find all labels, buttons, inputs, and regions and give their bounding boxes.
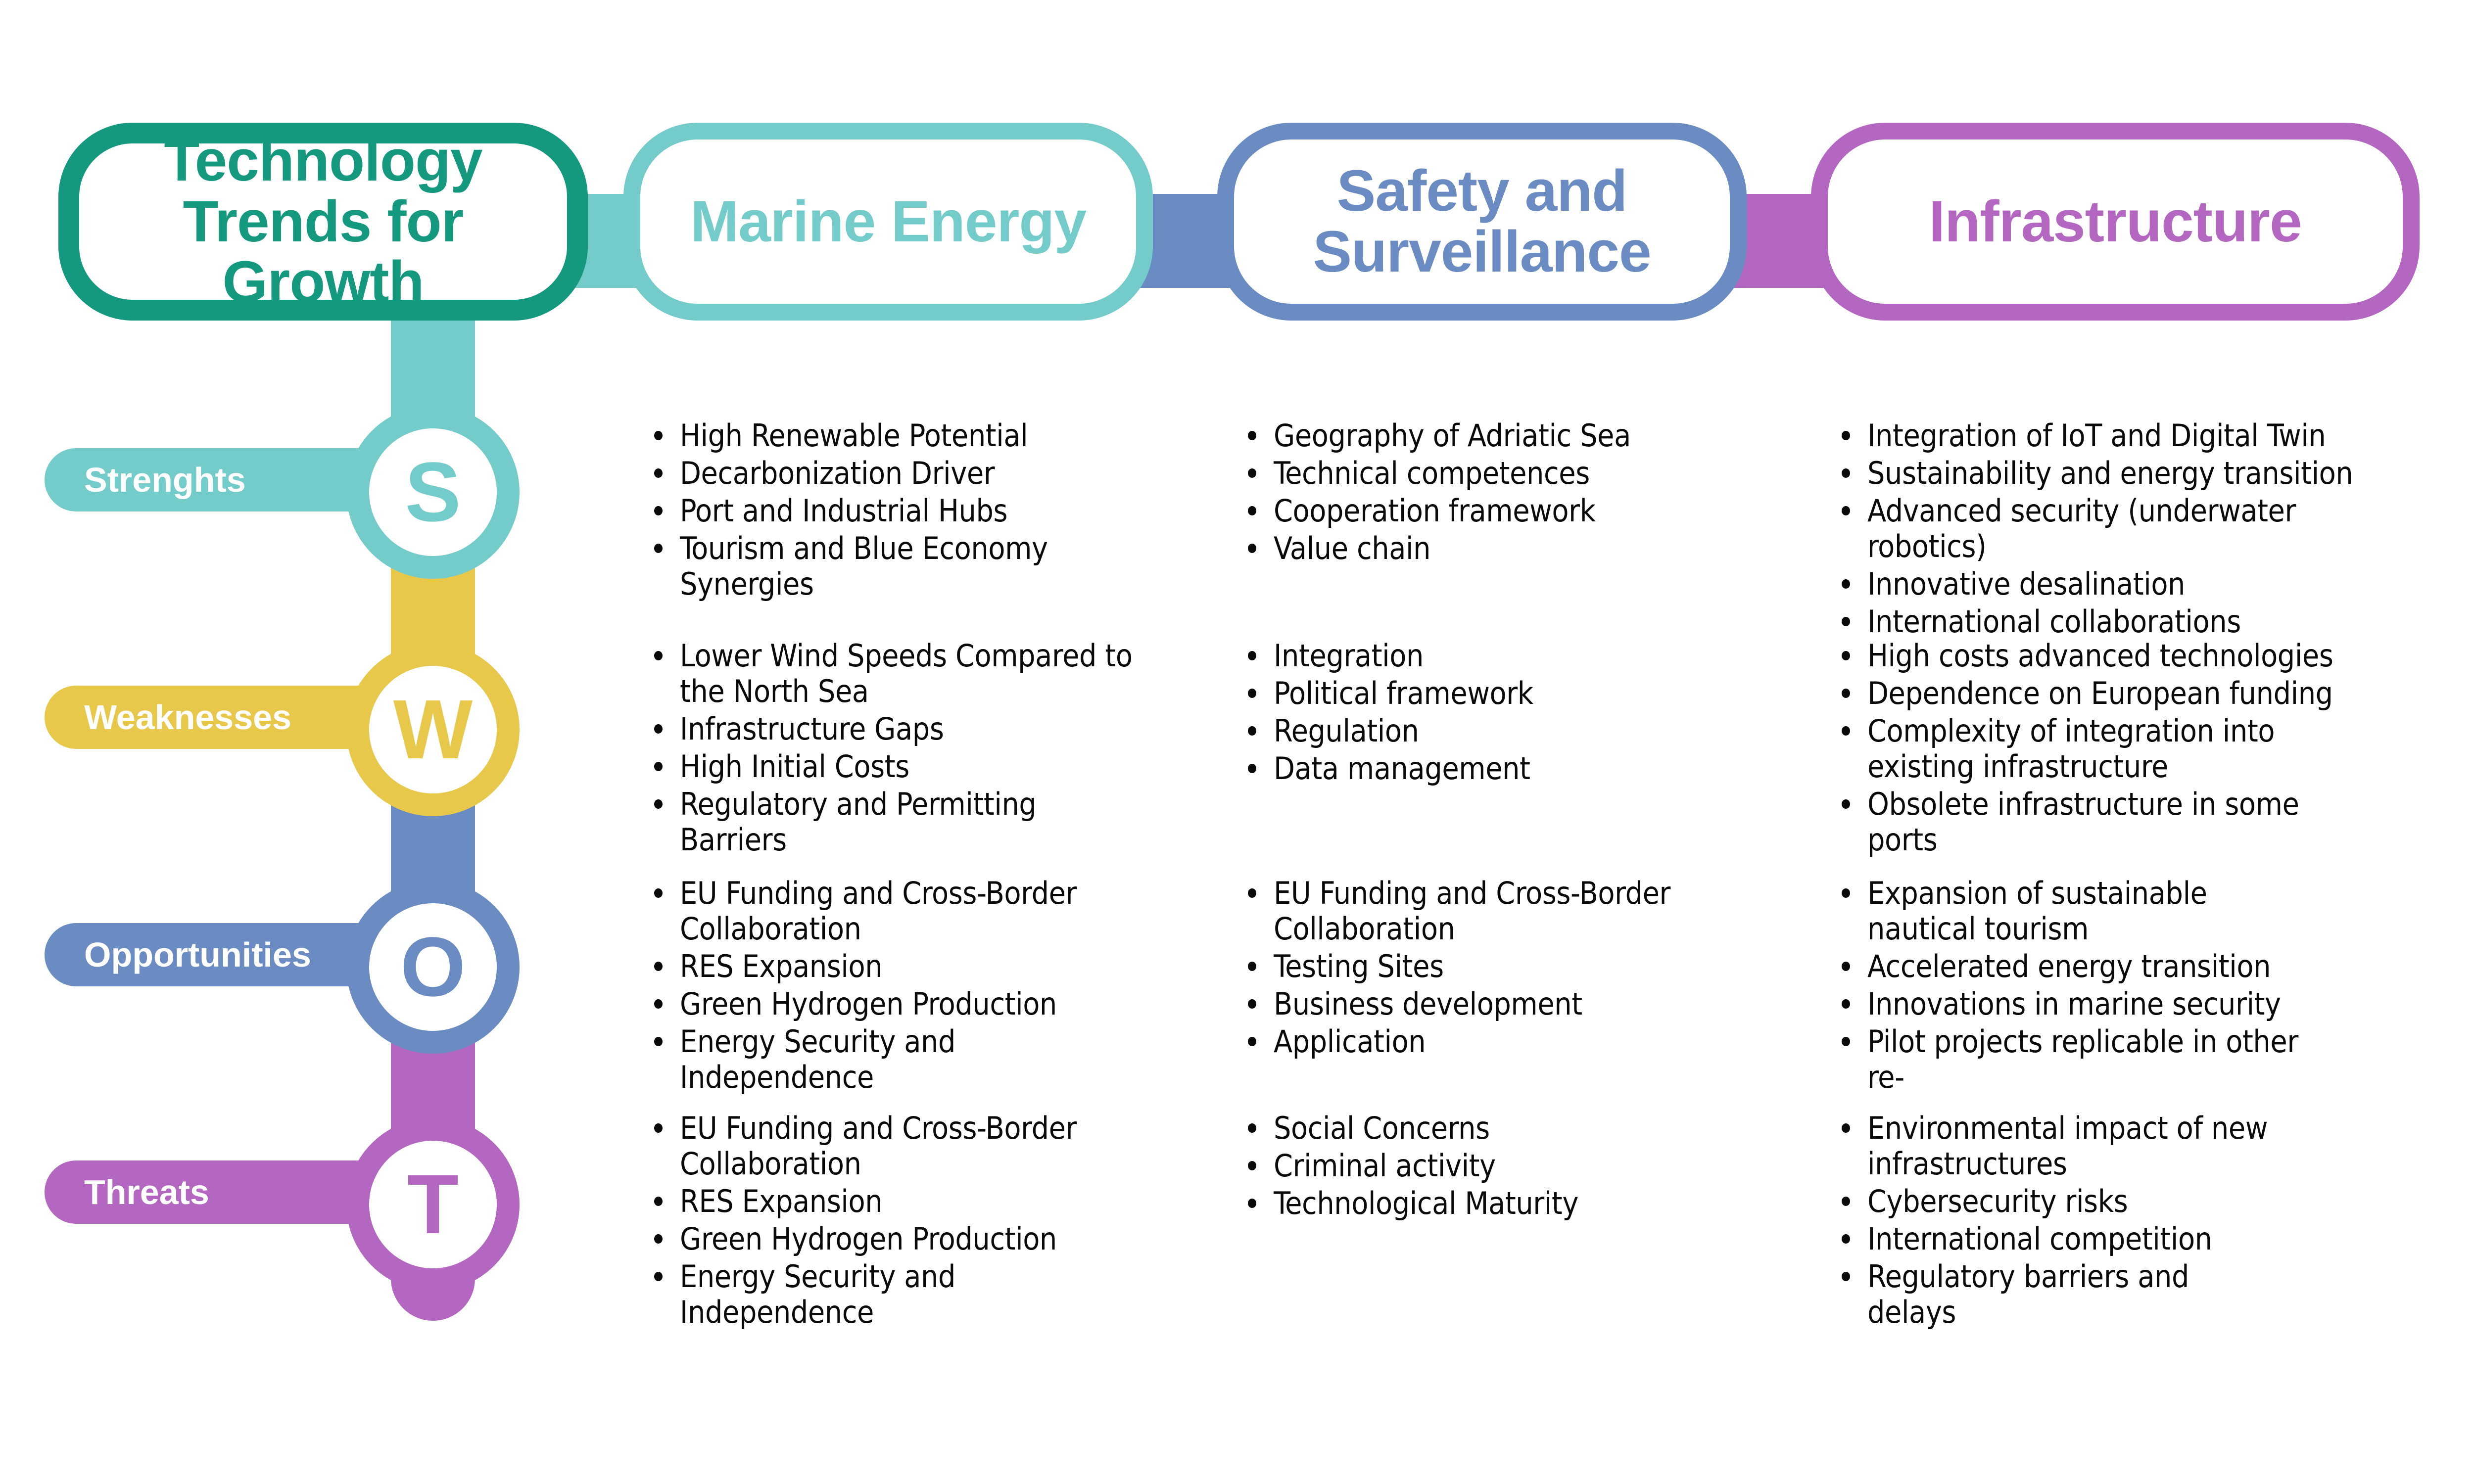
- bullet-item: EU Funding and Cross-Border Collaboratio…: [1237, 876, 1732, 947]
- cell-marine-opportunities: EU Funding and Cross-Border Collaboratio…: [643, 876, 1138, 1097]
- row-node-opportunities-letter: O: [400, 925, 466, 1009]
- column-header-safety-surveillance-label: Safety and Surveillance: [1313, 161, 1651, 282]
- column-header-infrastructure-label: Infrastructure: [1929, 191, 2301, 252]
- bullet-item: Geography of Adriatic Sea: [1237, 418, 1771, 454]
- row-node-opportunities[interactable]: O: [346, 881, 520, 1054]
- bullet-list: EU Funding and Cross-Border Collaboratio…: [643, 876, 1138, 1095]
- bullet-item: Social Concerns: [1237, 1111, 1771, 1146]
- bullet-list: High costs advanced technologiesDependen…: [1831, 638, 2370, 857]
- bullet-item: Complexity of integration into existing …: [1831, 713, 2370, 785]
- cell-safety-weaknesses: IntegrationPolitical frameworkRegulation…: [1237, 638, 1771, 788]
- cell-safety-threats: Social ConcernsCriminal activityTechnolo…: [1237, 1111, 1771, 1223]
- title-box[interactable]: Technology Trends for Growth: [58, 123, 588, 321]
- bullet-item: Green Hydrogen Production: [643, 986, 1138, 1022]
- bullet-item: High costs advanced technologies: [1831, 638, 2370, 674]
- bullet-item: Integration: [1237, 638, 1771, 674]
- bullet-list: Geography of Adriatic SeaTechnical compe…: [1237, 418, 1771, 566]
- cell-infrastructure-opportunities: Expansion of sustainable nautical touris…: [1831, 876, 2316, 1097]
- bullet-item: Cybersecurity risks: [1831, 1184, 2276, 1219]
- bullet-item: Green Hydrogen Production: [643, 1221, 1138, 1257]
- bullet-item: Accelerated energy transition: [1831, 949, 2316, 984]
- bullet-item: Infrastructure Gaps: [643, 711, 1138, 747]
- bullet-item: Innovations in marine security: [1831, 986, 2316, 1022]
- column-header-safety-surveillance[interactable]: Safety and Surveillance: [1217, 123, 1747, 321]
- bullet-item: Energy Security and Independence: [643, 1024, 1138, 1095]
- row-node-threats[interactable]: T: [346, 1118, 520, 1291]
- bullet-item: High Initial Costs: [643, 749, 1138, 785]
- cell-marine-strengths: High Renewable PotentialDecarbonization …: [643, 418, 1178, 604]
- bullet-list: High Renewable PotentialDecarbonization …: [643, 418, 1178, 602]
- bullet-list: IntegrationPolitical frameworkRegulation…: [1237, 638, 1771, 787]
- bullet-item: Advanced security (underwater robotics): [1831, 493, 2405, 564]
- bullet-item: Integration of IoT and Digital Twin: [1831, 418, 2405, 454]
- bullet-item: Data management: [1237, 751, 1771, 787]
- bullet-list: Expansion of sustainable nautical touris…: [1831, 876, 2316, 1095]
- row-node-strengths-letter: S: [405, 450, 461, 534]
- row-label-threats-text: Threats: [84, 1172, 209, 1212]
- bullet-item: International competition: [1831, 1221, 2276, 1257]
- bullet-item: EU Funding and Cross-Border Collaboratio…: [643, 876, 1138, 947]
- bullet-list: Integration of IoT and Digital TwinSusta…: [1831, 418, 2405, 639]
- row-node-threats-letter: T: [407, 1162, 459, 1247]
- bullet-item: Application: [1237, 1024, 1732, 1060]
- bullet-list: Lower Wind Speeds Compared to the North …: [643, 638, 1138, 857]
- bullet-item: Technological Maturity: [1237, 1186, 1771, 1221]
- bullet-item: Pilot projects replicable in other re-: [1831, 1024, 2316, 1095]
- bullet-item: RES Expansion: [643, 1184, 1138, 1219]
- row-node-strengths[interactable]: S: [346, 406, 520, 579]
- bullet-item: Energy Security and Independence: [643, 1259, 1138, 1330]
- bullet-item: Regulatory barriers and delays: [1831, 1259, 2276, 1330]
- bullet-item: Criminal activity: [1237, 1148, 1771, 1184]
- bullet-item: Political framework: [1237, 676, 1771, 711]
- bullet-item: Obsolete infrastructure in some ports: [1831, 787, 2370, 858]
- row-node-weaknesses[interactable]: W: [346, 643, 520, 816]
- column-header-marine-energy[interactable]: Marine Energy: [623, 123, 1153, 321]
- cell-infrastructure-strengths: Integration of IoT and Digital TwinSusta…: [1831, 418, 2405, 641]
- swot-diagram: Technology Trends for Growth Marine Ener…: [0, 0, 2474, 1484]
- bullet-item: High Renewable Potential: [643, 418, 1178, 454]
- bullet-item: Dependence on European funding: [1831, 676, 2370, 711]
- bullet-item: Testing Sites: [1237, 949, 1732, 984]
- bullet-item: Value chain: [1237, 531, 1771, 566]
- row-label-opportunities-text: Opportunities: [84, 935, 311, 974]
- row-label-strengths-text: Strenghts: [84, 460, 246, 500]
- bullet-item: Regulation: [1237, 713, 1771, 749]
- bullet-item: Sustainability and energy transition: [1831, 456, 2405, 491]
- cell-safety-strengths: Geography of Adriatic SeaTechnical compe…: [1237, 418, 1771, 568]
- bullet-list: Social ConcernsCriminal activityTechnolo…: [1237, 1111, 1771, 1221]
- title-box-label: Technology Trends for Growth: [164, 131, 482, 313]
- cell-infrastructure-weaknesses: High costs advanced technologiesDependen…: [1831, 638, 2370, 859]
- bullet-item: Technical competences: [1237, 456, 1771, 491]
- bullet-item: RES Expansion: [643, 949, 1138, 984]
- row-label-weaknesses-text: Weaknesses: [84, 697, 291, 737]
- cell-infrastructure-threats: Environmental impact of new infrastructu…: [1831, 1111, 2276, 1332]
- cell-marine-weaknesses: Lower Wind Speeds Compared to the North …: [643, 638, 1138, 859]
- bullet-item: Expansion of sustainable nautical touris…: [1831, 876, 2316, 947]
- cell-marine-threats: EU Funding and Cross-Border Collaboratio…: [643, 1111, 1138, 1332]
- bullet-item: Business development: [1237, 986, 1732, 1022]
- bullet-item: EU Funding and Cross-Border Collaboratio…: [643, 1111, 1138, 1182]
- bullet-item: Port and Industrial Hubs: [643, 493, 1178, 529]
- cell-safety-opportunities: EU Funding and Cross-Border Collaboratio…: [1237, 876, 1732, 1062]
- bullet-item: Tourism and Blue Economy Synergies: [643, 531, 1178, 602]
- bullet-item: Regulatory and Permitting Barriers: [643, 787, 1138, 858]
- bullet-item: Lower Wind Speeds Compared to the North …: [643, 638, 1138, 709]
- bullet-item: Environmental impact of new infrastructu…: [1831, 1111, 2276, 1182]
- bullet-item: Cooperation framework: [1237, 493, 1771, 529]
- bullet-item: International collaborations: [1831, 604, 2405, 640]
- bullet-list: Environmental impact of new infrastructu…: [1831, 1111, 2276, 1330]
- bullet-item: Decarbonization Driver: [643, 456, 1178, 491]
- bullet-list: EU Funding and Cross-Border Collaboratio…: [643, 1111, 1138, 1330]
- bullet-list: EU Funding and Cross-Border Collaboratio…: [1237, 876, 1732, 1060]
- row-node-weaknesses-letter: W: [393, 688, 473, 772]
- column-header-marine-energy-label: Marine Energy: [690, 191, 1086, 252]
- bullet-item: Innovative desalination: [1831, 566, 2405, 602]
- column-header-infrastructure[interactable]: Infrastructure: [1811, 123, 2420, 321]
